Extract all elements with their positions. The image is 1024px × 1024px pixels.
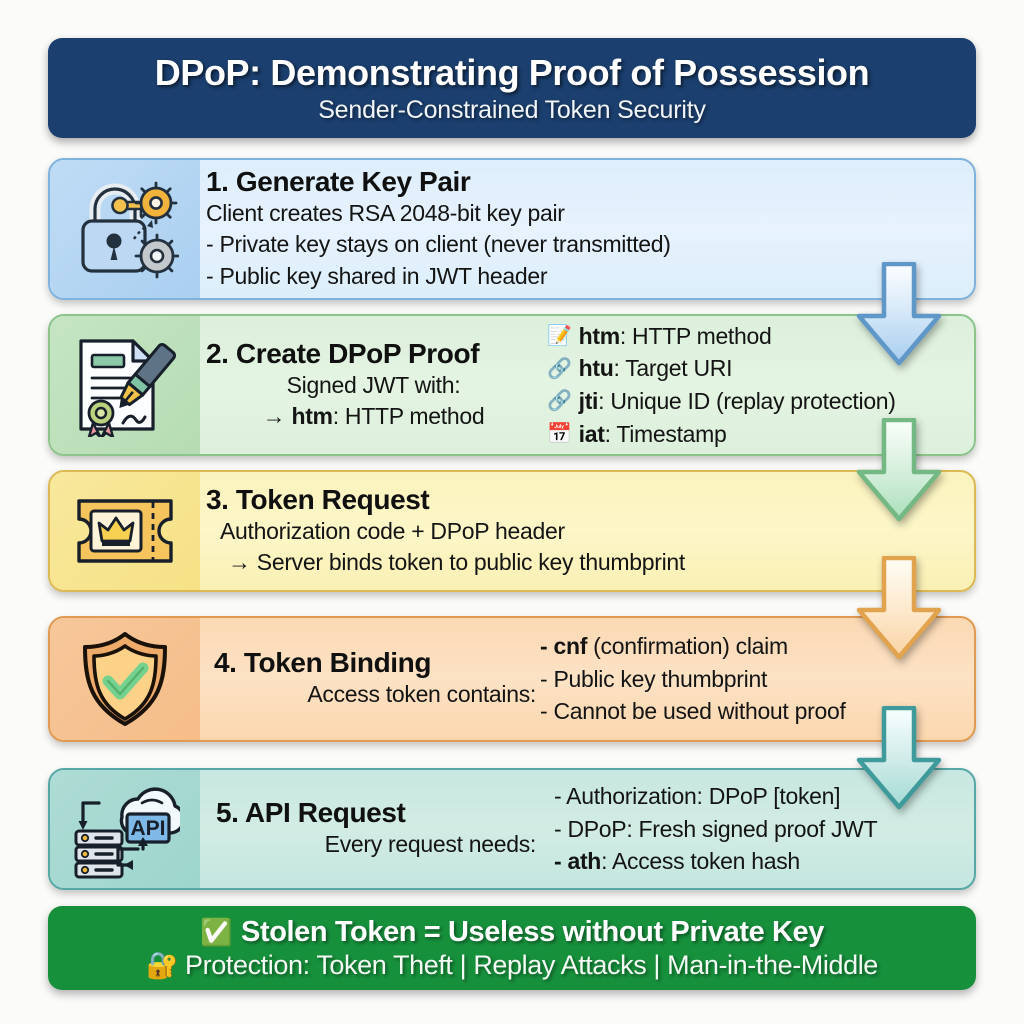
claim-row: - ath: Access token hash: [554, 845, 877, 878]
dpop-infographic: DPoP: Demonstrating Proof of Possession …: [0, 0, 1024, 1024]
step-body: 2. Create DPoP Proof Signed JWT with: → …: [200, 316, 974, 454]
page-subtitle: Sender-Constrained Token Security: [318, 96, 706, 125]
step-heading: 1. Generate Key Pair: [206, 166, 671, 198]
check-mark-icon: ✅: [200, 919, 232, 945]
claim-key: htm: [579, 323, 620, 349]
claim-key: htm: [291, 403, 332, 429]
step-text-column: 3. Token Request Authorization code + DP…: [206, 484, 685, 579]
claim-text: htm: HTTP method: [579, 320, 772, 353]
step-panel-create-dpop-proof: 2. Create DPoP Proof Signed JWT with: → …: [48, 314, 976, 456]
step-detail-line: Client creates RSA 2048-bit key pair: [206, 198, 671, 229]
step-detail-line: → Server binds token to public key thumb…: [206, 547, 685, 578]
claim-text: - Cannot be used without proof: [540, 695, 846, 728]
step-icon-container: API: [50, 770, 200, 888]
step-text-column: 1. Generate Key Pair Client creates RSA …: [206, 166, 671, 292]
claim-desc: : Unique ID (replay protection): [598, 388, 896, 414]
step-panel-api-request: API: [48, 768, 976, 890]
claim-text: iat: Timestamp: [579, 418, 727, 451]
step-text-column: 5. API Request Every request needs:: [206, 797, 536, 860]
step-panel-generate-key-pair: 1. Generate Key Pair Client creates RSA …: [48, 158, 976, 300]
step-detail-line: Every request needs:: [206, 829, 536, 860]
claim-key: - cnf: [540, 633, 587, 659]
claim-row: 📅 iat: Timestamp: [547, 418, 896, 451]
claim-key: jti: [579, 388, 599, 414]
claim-row: - Cannot be used without proof: [540, 695, 846, 728]
step-heading: 5. API Request: [206, 797, 536, 829]
claim-row: - cnf (confirmation) claim: [540, 630, 846, 663]
claim-row: 🔗 htu: Target URI: [547, 352, 896, 385]
step-icon-container: [50, 618, 200, 740]
claim-desc: : HTTP method: [620, 323, 772, 349]
footer-headline: ✅ Stolen Token = Useless without Private…: [200, 916, 824, 949]
claim-text: - Authorization: DPoP [token]: [554, 780, 840, 813]
claim-row: 🔗 jti: Unique ID (replay protection): [547, 385, 896, 418]
step-claims-column: 📝 htm: HTTP method 🔗 htu: Target URI 🔗 j…: [547, 320, 896, 451]
claim-text: - ath: Access token hash: [554, 845, 800, 878]
step-body: 4. Token Binding Access token contains: …: [200, 618, 974, 740]
calendar-icon: 📅: [547, 424, 572, 444]
footer-protection-text: Protection: Token Theft | Replay Attacks…: [185, 950, 878, 981]
header-banner: DPoP: Demonstrating Proof of Possession …: [48, 38, 976, 138]
claim-key: - ath: [554, 848, 601, 874]
claim-desc: : Access token hash: [601, 848, 800, 874]
step-claims-column: - cnf (confirmation) claim - Public key …: [540, 630, 846, 728]
step-detail-line: Authorization code + DPoP header: [206, 516, 685, 547]
step-detail-line: Signed JWT with:: [206, 370, 541, 401]
svg-text:API: API: [130, 817, 165, 840]
padlock-key-gears-icon: [71, 176, 179, 282]
link-icon: 🔗: [547, 391, 572, 411]
footer-banner: ✅ Stolen Token = Useless without Private…: [48, 906, 976, 990]
claim-text: - DPoP: Fresh signed proof JWT: [554, 813, 877, 846]
claim-row: - Public key thumbprint: [540, 663, 846, 696]
footer-headline-text: Stolen Token = Useless without Private K…: [241, 916, 824, 949]
footer-protection-line: 🔐 Protection: Token Theft | Replay Attac…: [146, 950, 878, 981]
claim-text: - Public key thumbprint: [540, 663, 767, 696]
ticket-crown-icon: [73, 493, 177, 569]
claim-row: - Authorization: DPoP [token]: [554, 780, 877, 813]
step-heading: 2. Create DPoP Proof: [206, 338, 541, 370]
step-text-column: 2. Create DPoP Proof Signed JWT with: → …: [206, 338, 541, 433]
step-heading: 4. Token Binding: [206, 647, 536, 679]
step-icon-container: [50, 316, 200, 454]
claim-key: iat: [579, 421, 605, 447]
step-icon-container: [50, 160, 200, 298]
step-detail-line: - Private key stays on client (never tra…: [206, 229, 671, 260]
claim-key: htu: [579, 355, 614, 381]
claim-row: 📝 htm: HTTP method: [547, 320, 896, 353]
step-panel-token-binding: 4. Token Binding Access token contains: …: [48, 616, 976, 742]
step-body: 3. Token Request Authorization code + DP…: [200, 472, 974, 590]
claim-text: - cnf (confirmation) claim: [540, 630, 788, 663]
step-detail-line: Access token contains:: [206, 679, 536, 710]
claim-desc: : Target URI: [613, 355, 732, 381]
claim-text: htu: Target URI: [579, 352, 733, 385]
step-body: 1. Generate Key Pair Client creates RSA …: [200, 160, 974, 298]
page-title: DPoP: Demonstrating Proof of Possession: [155, 53, 870, 93]
claim-row: - DPoP: Fresh signed proof JWT: [554, 813, 877, 846]
step-panel-token-request: 3. Token Request Authorization code + DP…: [48, 470, 976, 592]
memo-icon: 📝: [547, 326, 572, 346]
step-icon-container: [50, 472, 200, 590]
claim-desc: (confirmation) claim: [587, 633, 788, 659]
link-icon: 🔗: [547, 359, 572, 379]
shield-check-icon: [75, 629, 175, 729]
step-heading: 3. Token Request: [206, 484, 685, 516]
cloud-api-server-icon: API: [70, 779, 180, 879]
signed-certificate-pen-icon: [71, 333, 179, 437]
step-claims-column: - Authorization: DPoP [token] - DPoP: Fr…: [554, 780, 877, 878]
step-detail-line: → htm: HTTP method: [206, 401, 541, 432]
claim-desc: : Timestamp: [605, 421, 727, 447]
step-text-column: 4. Token Binding Access token contains:: [206, 647, 536, 710]
step-body: 5. API Request Every request needs: - Au…: [200, 770, 974, 888]
claim-text: jti: Unique ID (replay protection): [579, 385, 896, 418]
lock-icon: 🔐: [146, 952, 178, 978]
step-detail-line: - Public key shared in JWT header: [206, 261, 671, 292]
